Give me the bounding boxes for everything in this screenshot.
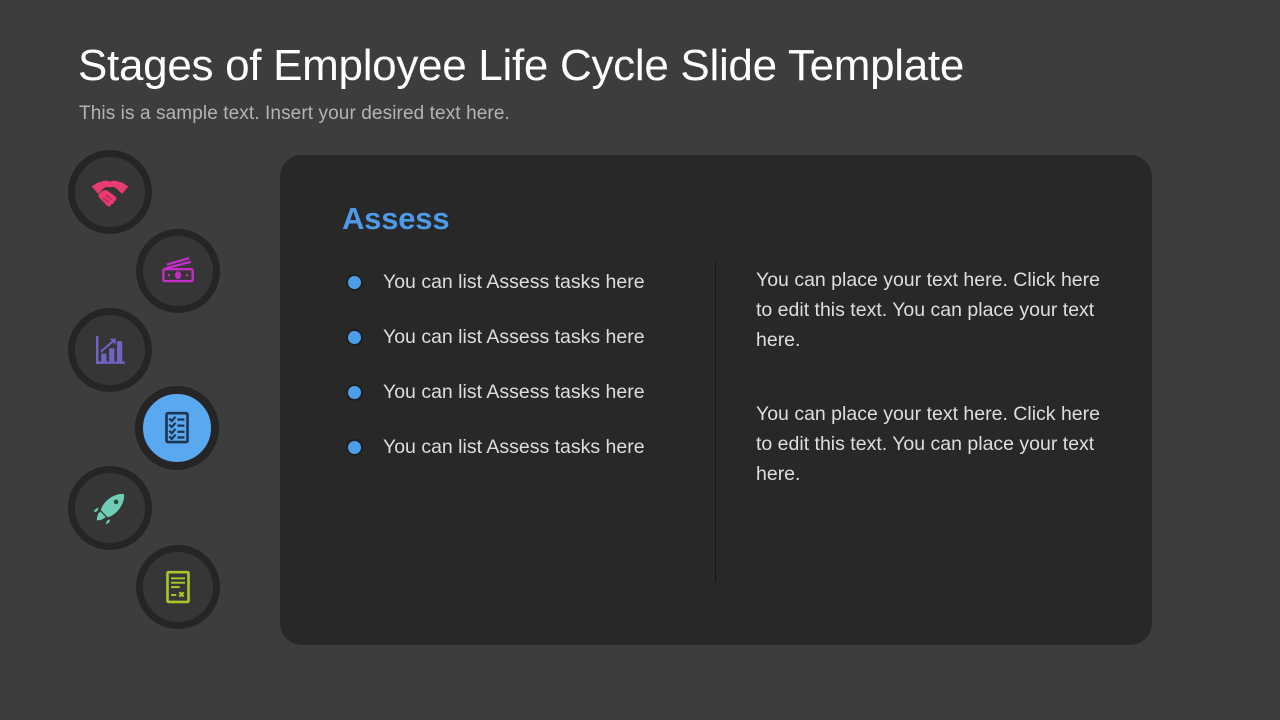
list-item-label: You can list Assess tasks here xyxy=(383,271,645,293)
list-item-label: You can list Assess tasks here xyxy=(383,326,645,348)
description-paragraph[interactable]: You can place your text here. Click here… xyxy=(756,265,1106,355)
checklist-icon xyxy=(156,407,198,449)
panel-heading: Assess xyxy=(342,201,449,237)
page-subtitle: This is a sample text. Insert your desir… xyxy=(79,103,510,125)
list-item-label: You can list Assess tasks here xyxy=(383,381,645,403)
description-column: You can place your text here. Click here… xyxy=(756,265,1106,489)
rocket-icon xyxy=(89,487,131,529)
stage-node-onboard[interactable] xyxy=(68,308,152,392)
stage-node-develop[interactable] xyxy=(68,466,152,550)
stage-node-attract[interactable] xyxy=(68,150,152,234)
slide-canvas: Stages of Employee Life Cycle Slide Temp… xyxy=(0,0,1280,720)
list-item[interactable]: You can list Assess tasks here xyxy=(342,322,672,352)
growth-chart-icon xyxy=(89,329,131,371)
stage-node-separate[interactable] xyxy=(136,545,220,629)
list-item-label: You can list Assess tasks here xyxy=(383,436,645,458)
handshake-icon xyxy=(88,170,132,214)
bullet-dot-icon xyxy=(346,439,363,456)
page-title: Stages of Employee Life Cycle Slide Temp… xyxy=(78,42,964,90)
bullet-dot-icon xyxy=(346,274,363,291)
stage-node-recruit[interactable] xyxy=(136,229,220,313)
task-list: You can list Assess tasks here You can l… xyxy=(342,267,672,462)
document-x-icon xyxy=(157,566,199,608)
content-panel: Assess You can list Assess tasks here Yo… xyxy=(280,155,1152,645)
list-item[interactable]: You can list Assess tasks here xyxy=(342,377,672,407)
bullet-dot-icon xyxy=(346,329,363,346)
stage-chain xyxy=(60,145,275,645)
stage-node-assess[interactable] xyxy=(136,387,218,469)
description-paragraph[interactable]: You can place your text here. Click here… xyxy=(756,399,1106,489)
column-divider xyxy=(715,262,716,582)
money-bills-icon xyxy=(156,249,200,293)
bullet-dot-icon xyxy=(346,384,363,401)
list-item[interactable]: You can list Assess tasks here xyxy=(342,267,672,297)
list-item[interactable]: You can list Assess tasks here xyxy=(342,432,672,462)
